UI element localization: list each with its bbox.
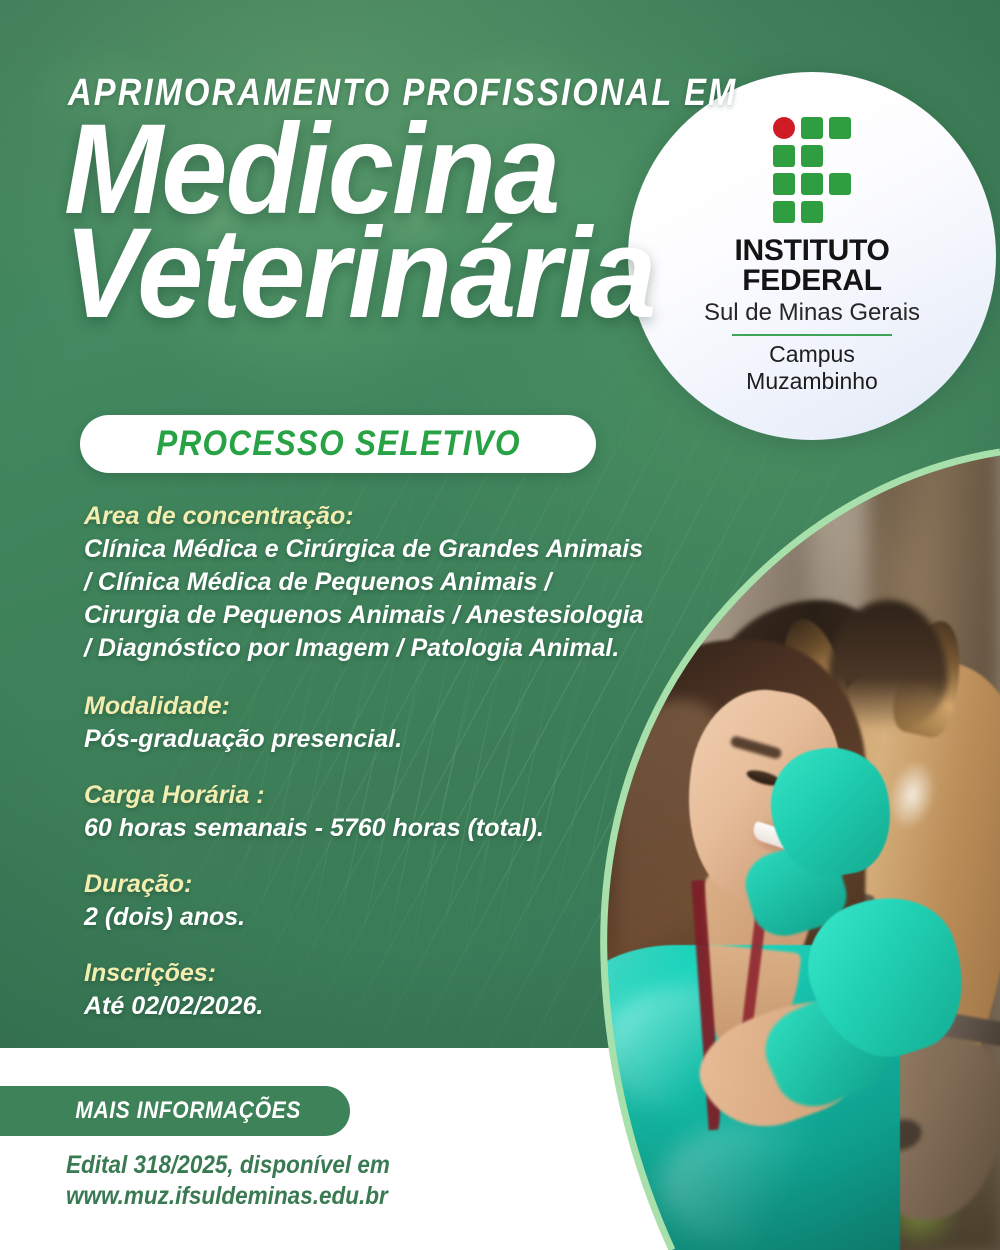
instituto-federal-logo-icon [773,117,851,223]
edital-info: Edital 318/2025, disponível em www.muz.i… [66,1150,390,1212]
mais-informacoes-label: MAIS INFORMAÇÕES [75,1097,301,1125]
detail-label: Area de concentração: [84,500,654,533]
logo-cell-r3c3 [829,173,851,195]
institution-logo-badge: INSTITUTO FEDERAL Sul de Minas Gerais Ca… [628,72,996,440]
detail-value: 60 horas semanais - 5760 horas (total). [84,812,654,845]
logo-campus-line2: Muzambinho [746,368,878,395]
detail-label: Modalidade: [84,690,654,723]
logo-cell-r1c2 [801,117,823,139]
logo-region: Sul de Minas Gerais [704,299,920,327]
logo-divider [732,334,892,336]
poster-root: INSTITUTO FEDERAL Sul de Minas Gerais Ca… [0,0,1000,1250]
detail-value: Até 02/02/2026. [84,990,654,1023]
mais-informacoes-badge: MAIS INFORMAÇÕES [0,1086,350,1136]
logo-campus-line1: Campus [769,341,855,368]
detail-modalidade: Modalidade: Pós-graduação presencial. [84,690,654,756]
edital-line-1: Edital 318/2025, disponível em [66,1150,390,1181]
logo-name-line2: FEDERAL [742,266,882,296]
processo-seletivo-label: PROCESSO SELETIVO [156,424,521,464]
edital-website-link[interactable]: www.muz.ifsuldeminas.edu.br [66,1181,390,1212]
logo-cell-r2c1 [773,145,795,167]
logo-cell-r4c1 [773,201,795,223]
detail-inscricoes: Inscrições: Até 02/02/2026. [84,957,654,1023]
logo-cell-r2c2 [801,145,823,167]
logo-cell-r3c1 [773,173,795,195]
detail-carga-horaria: Carga Horária : 60 horas semanais - 5760… [84,779,654,845]
logo-cell-r4c3 [829,201,851,223]
processo-seletivo-badge: PROCESSO SELETIVO [80,415,596,473]
title-line-2: Veterinária [64,222,654,326]
logo-cell-r3c2 [801,173,823,195]
logo-cell-r4c2 [801,201,823,223]
detail-label: Duração: [84,868,654,901]
detail-area-de-concentracao: Area de concentração: Clínica Médica e C… [84,500,654,665]
logo-name-line1: INSTITUTO [734,236,889,266]
detail-duracao: Duração: 2 (dois) anos. [84,868,654,934]
detail-value: Pós-graduação presencial. [84,723,654,756]
course-details: Area de concentração: Clínica Médica e C… [84,500,654,1040]
detail-value: 2 (dois) anos. [84,901,654,934]
logo-cell-r1c1 [773,117,795,139]
logo-cell-r2c3 [829,145,851,167]
detail-value: Clínica Médica e Cirúrgica de Grandes An… [84,533,654,665]
detail-label: Inscrições: [84,957,654,990]
detail-label: Carga Horária : [84,779,654,812]
page-title: Medicina Veterinária [64,118,654,326]
logo-cell-r1c3 [829,117,851,139]
